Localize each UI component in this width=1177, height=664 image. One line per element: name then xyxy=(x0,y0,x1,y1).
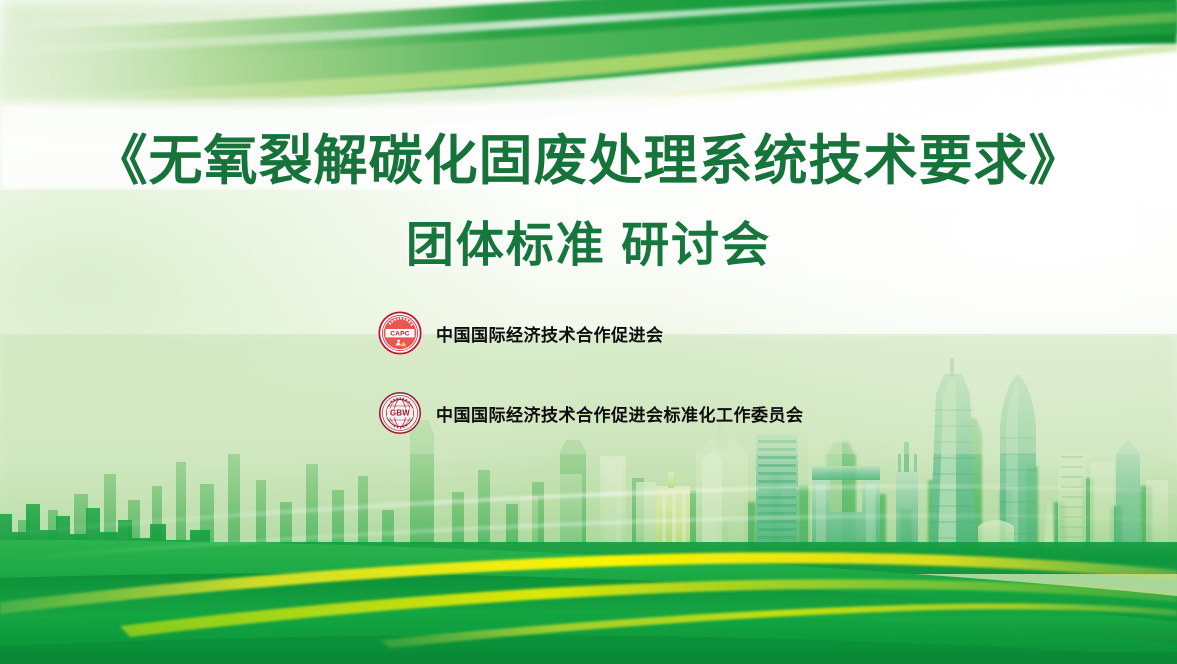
svg-text:CAPC: CAPC xyxy=(390,330,410,337)
page-title: 《无氧裂解碳化固废处理系统技术要求》 xyxy=(0,116,1177,195)
svg-text:GBW: GBW xyxy=(390,409,410,418)
page-subtitle: 团体标准 研讨会 xyxy=(0,205,1177,275)
organization-label-gbw: 中国国际经济技术合作促进会标准化工作委员会 xyxy=(436,401,804,426)
slide-content: 《无氧裂解碳化固废处理系统技术要求》 团体标准 研讨会 xyxy=(0,0,1177,664)
gbw-seal-icon: GBW xyxy=(378,391,422,435)
organization-label-capc: 中国国际经济技术合作促进会 xyxy=(436,321,664,346)
organization-row-capc: CAPC 中国国际经济技术合作促进会 xyxy=(378,311,664,355)
presentation-slide: 《无氧裂解碳化固废处理系统技术要求》 团体标准 研讨会 xyxy=(0,0,1177,664)
organization-row-gbw: GBW xyxy=(378,391,804,435)
capc-seal-icon: CAPC xyxy=(378,311,422,355)
